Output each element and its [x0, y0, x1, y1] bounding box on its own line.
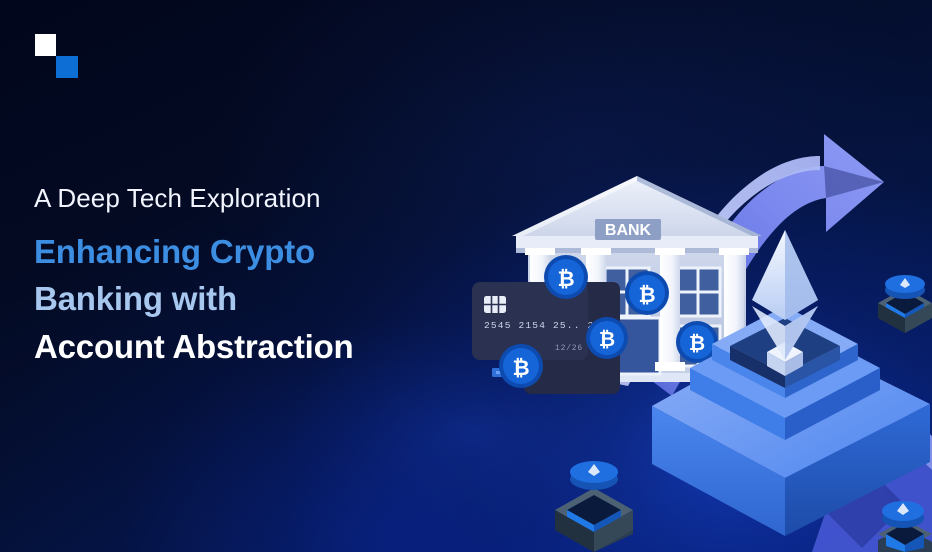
headline-line-3: Account Abstraction: [34, 323, 454, 371]
svg-text:₿: ₿: [638, 284, 655, 307]
svg-text:₿: ₿: [557, 268, 574, 291]
bank-column: [719, 248, 749, 371]
bitcoin-coin-icon: ₿: [586, 317, 628, 359]
bank-window: [676, 326, 720, 366]
eyebrow-text: A Deep Tech Exploration: [34, 183, 454, 214]
bank-window: [556, 326, 596, 366]
bitcoin-coin-icon: ₿: [625, 271, 669, 315]
bank-window: [556, 268, 600, 316]
hero-banner: BANK: [0, 0, 932, 552]
bitcoin-coin-icon: ₿: [676, 321, 718, 363]
logo-square-white: [35, 34, 56, 56]
brand-logo[interactable]: [35, 34, 83, 82]
card-number-text: 2545 2154 25.. 254: [484, 320, 608, 331]
ethereum-coin-icon: [570, 461, 618, 490]
isometric-ethereum-platform: [652, 230, 930, 536]
hero-copy-block: A Deep Tech Exploration Enhancing Crypto…: [34, 183, 454, 370]
coin-bar-stack: [492, 332, 588, 377]
ambient-glow: [420, 250, 932, 552]
logo-square-blue: [56, 56, 78, 78]
bank-sign-plate: [595, 219, 661, 240]
bank-window: [605, 268, 649, 316]
card-chip-icon: [484, 296, 506, 313]
isometric-box: [878, 520, 932, 552]
bank-column: [525, 248, 555, 371]
credit-card-back: [524, 282, 620, 394]
growth-arrow-icon: [618, 134, 884, 396]
bank-building-icon: BANK: [512, 176, 762, 382]
headline-line-2: Banking with: [34, 275, 454, 323]
bank-sign-label: BANK: [605, 222, 652, 239]
card-expiry-text: 12/26: [555, 344, 583, 353]
bitcoin-coin-icon: ₿: [499, 344, 543, 388]
bank-column: [581, 248, 611, 371]
bank-door: [612, 318, 660, 374]
bank-window: [676, 268, 720, 316]
isometric-box: [878, 288, 932, 333]
svg-text:₿: ₿: [689, 333, 705, 355]
growth-arrow-tail: [812, 392, 932, 552]
ethereum-coin-icon: [885, 275, 925, 299]
page-title: Enhancing Crypto Banking with Account Ab…: [34, 228, 454, 371]
svg-text:₿: ₿: [599, 329, 615, 351]
bank-column: [655, 248, 685, 371]
bitcoin-coin-icon: ₿: [544, 255, 588, 299]
isometric-box: [555, 488, 633, 552]
credit-card-front: [472, 282, 588, 360]
svg-text:₿: ₿: [512, 357, 529, 380]
headline-line-1: Enhancing Crypto: [34, 228, 454, 276]
ethereum-coin-icon: [882, 501, 924, 528]
